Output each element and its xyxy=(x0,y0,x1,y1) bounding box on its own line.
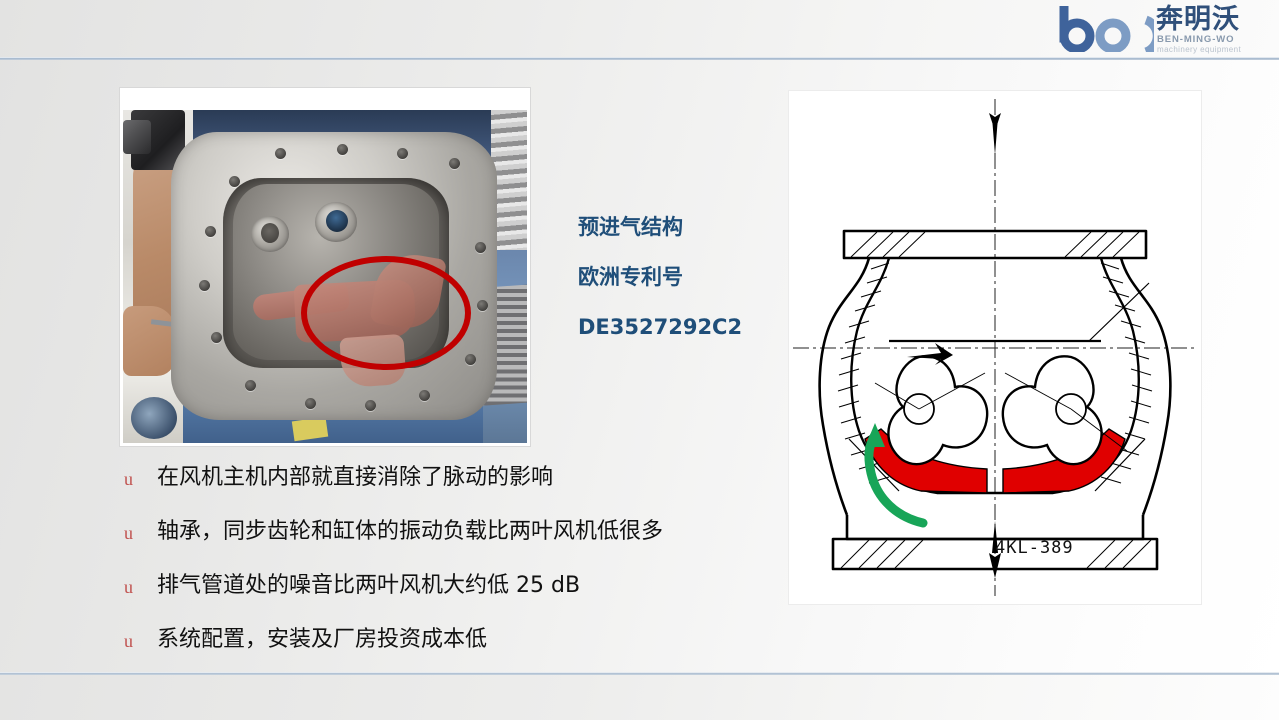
bolt-hole xyxy=(465,354,476,365)
photo-bg-hand xyxy=(123,306,175,376)
blower-cross-section-drawing: 4KL-389 xyxy=(789,91,1201,604)
bearing-bore-right xyxy=(326,210,348,232)
slide-canvas: 奔明沃 BEN-MING-WO machinery equipment xyxy=(0,0,1279,720)
bolt-hole xyxy=(449,158,460,169)
logo-tagline: machinery equipment xyxy=(1157,45,1241,54)
bolt-hole xyxy=(229,176,240,187)
bolt-hole xyxy=(475,242,486,253)
bolt-hole xyxy=(205,226,216,237)
bullet-marker-icon: u xyxy=(124,469,133,490)
bullet-marker-icon: u xyxy=(124,523,133,544)
logo-pinyin: BEN-MING-WO xyxy=(1157,34,1234,45)
photo-bg-dark-tool-2 xyxy=(123,120,151,154)
bullet-text: 系统配置，安装及厂房投资成本低 xyxy=(157,625,487,655)
bullet-text: 在风机主机内部就直接消除了脉动的影响 xyxy=(157,463,553,493)
heading-line-1: 预进气结构 xyxy=(578,202,788,252)
list-item: u 轴承，同步齿轮和缸体的振动负载比两叶风机低很多 xyxy=(124,517,784,571)
bullet-text: 轴承，同步齿轮和缸体的振动负载比两叶风机低很多 xyxy=(157,517,663,547)
photo-content xyxy=(123,110,527,443)
list-item: u 排气管道处的噪音比两叶风机大约低 25 dB xyxy=(124,571,784,625)
bullet-marker-icon: u xyxy=(124,577,133,598)
bolt-hole xyxy=(199,280,210,291)
bolt-hole xyxy=(245,380,256,391)
cross-section-svg: 4KL-389 xyxy=(789,91,1201,604)
red-ellipse-highlight xyxy=(301,256,471,370)
bolt-hole xyxy=(211,332,222,343)
bolt-hole xyxy=(305,398,316,409)
bolt-hole xyxy=(477,300,488,311)
company-logo[interactable]: 奔明沃 BEN-MING-WO machinery equipment xyxy=(1058,4,1270,56)
bullet-list: u 在风机主机内部就直接消除了脉动的影响 u 轴承，同步齿轮和缸体的振动负载比两… xyxy=(124,463,784,679)
logo-wordmark: 奔明沃 BEN-MING-WO machinery equipment xyxy=(1156,5,1272,55)
bolt-hole xyxy=(419,390,430,401)
logo-chinese-name: 奔明沃 xyxy=(1156,5,1240,34)
part-number-label: 4KL-389 xyxy=(995,538,1074,558)
patent-heading: 预进气结构 欧洲专利号 DE3527292C2 xyxy=(578,202,788,352)
list-item: u 系统配置，安装及厂房投资成本低 xyxy=(124,625,784,679)
bo-monogram-icon xyxy=(1058,6,1154,52)
bearing-bore-left xyxy=(261,223,279,243)
bolt-hole xyxy=(365,400,376,411)
blower-casing-photo xyxy=(120,88,530,446)
photo-bg-knob xyxy=(131,397,177,439)
list-item: u 在风机主机内部就直接消除了脉动的影响 xyxy=(124,463,784,517)
bolt-hole xyxy=(397,148,408,159)
heading-line-2: 欧洲专利号 xyxy=(578,252,788,302)
bolt-hole xyxy=(275,148,286,159)
header-divider xyxy=(0,57,1279,60)
slide-footer: 8 Zhejiang BMW Mechanical & Science and … xyxy=(0,675,1279,720)
bullet-text: 排气管道处的噪音比两叶风机大约低 25 dB xyxy=(157,571,580,601)
heading-line-3: DE3527292C2 xyxy=(578,302,788,352)
bullet-marker-icon: u xyxy=(124,631,133,652)
bolt-hole xyxy=(337,144,348,155)
